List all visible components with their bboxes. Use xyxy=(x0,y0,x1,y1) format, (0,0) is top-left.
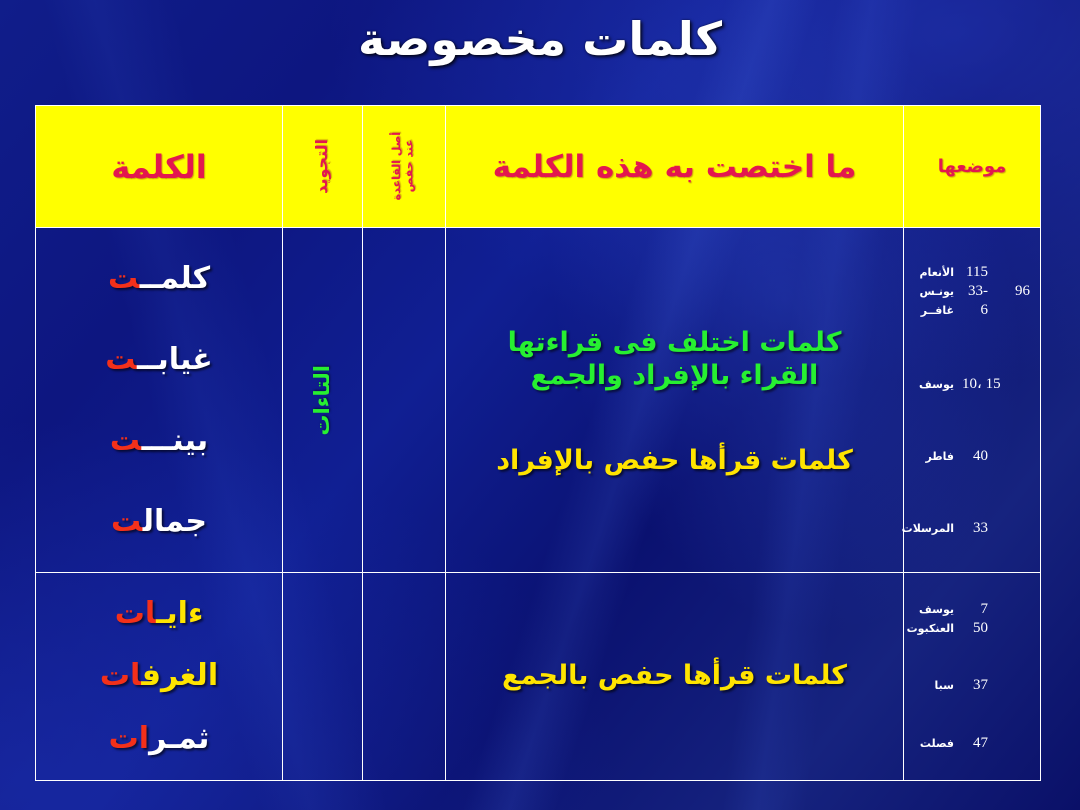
description-green: كلمات اختلف فى قراءتها القراء بالإفراد و… xyxy=(456,327,893,393)
description-wrap: كلمات قرأها حفص بالجمع xyxy=(446,573,903,780)
surah-name: يوسف xyxy=(902,378,954,391)
word-entry: الغرفات xyxy=(36,661,282,691)
ayah-number: 115 xyxy=(962,264,988,281)
surah-name: الأنعام xyxy=(902,266,954,279)
place-reference: 33المرسلات xyxy=(910,520,1034,537)
cell-rule-row0: التاءات xyxy=(283,228,363,573)
word-entry: غيابــت xyxy=(36,345,282,375)
word-suffix: ت xyxy=(111,504,143,539)
cell-places-row1: 7يوسف50العنكبوت37سبا47فصلت xyxy=(904,573,1041,781)
header-label-word: الكلمة xyxy=(111,148,207,186)
place-group: 40فاطر xyxy=(910,446,1034,467)
place-reference: 37سبا xyxy=(910,677,1034,694)
ayah-number: 33 xyxy=(962,520,988,537)
place-reference: 50العنكبوت xyxy=(910,620,1034,637)
header-label-rule: التجويد xyxy=(313,139,331,194)
word-list: كلمــتغيابــتبينـــتجمالت xyxy=(36,228,282,572)
ayah-number: 6 xyxy=(962,302,988,319)
place-reference: 7يوسف xyxy=(910,601,1034,618)
header-cell-origin: أصل القاعدة عند حفص xyxy=(363,106,446,228)
ayah-number: 7 xyxy=(962,601,988,618)
ayah-number: 40 xyxy=(962,448,988,465)
header-cell-description: ما اختصت به هذه الكلمة xyxy=(446,106,904,228)
place-reference: 115الأنعام xyxy=(910,264,1034,281)
place-group: 115الأنعام9633-يونـس6غافــر xyxy=(910,262,1034,321)
word-stem: غيابــ xyxy=(137,342,213,377)
place-reference: 10، 15يوسف xyxy=(910,374,1034,393)
place-reference: 47فصلت xyxy=(910,735,1034,752)
place-group: 7يوسف50العنكبوت xyxy=(910,599,1034,639)
rule-label-taaat: التاءات xyxy=(310,365,334,436)
place-list: 115الأنعام9633-يونـس6غافــر10، 15يوسف40ف… xyxy=(904,228,1040,572)
word-suffix: ت xyxy=(108,261,140,296)
special-words-table: موضعها ما اختصت به هذه الكلمة أصل القاعد… xyxy=(35,105,1041,781)
description-yellow: كلمات قرأها حفص بالجمع xyxy=(456,660,893,692)
word-stem: بينـــ xyxy=(142,423,209,458)
word-list: ءايـاتالغرفاتثمـرات xyxy=(36,573,282,780)
surah-name: غافــر xyxy=(902,304,954,317)
word-suffix: ات xyxy=(100,658,141,693)
word-suffix: ات xyxy=(115,596,156,631)
rule-wrap: التاءات xyxy=(283,228,362,572)
word-stem: الغرف xyxy=(141,658,218,693)
word-entry: ثمـرات xyxy=(36,724,282,754)
place-reference: 9633-يونـس xyxy=(910,283,1034,300)
ayah-number: 33- xyxy=(962,283,988,300)
place-group: 33المرسلات xyxy=(910,518,1034,539)
surah-name: سبا xyxy=(902,679,954,692)
page-title: كلمات مخصوصة xyxy=(0,14,1080,65)
table-header-row: موضعها ما اختصت به هذه الكلمة أصل القاعد… xyxy=(36,106,1041,228)
surah-name: فصلت xyxy=(902,737,954,750)
word-suffix: ت xyxy=(105,342,137,377)
cell-description-row0: كلمات اختلف فى قراءتها القراء بالإفراد و… xyxy=(446,228,904,573)
surah-name: المرسلات xyxy=(902,522,954,535)
ayah-number: 10، 15 xyxy=(962,374,988,393)
word-entry: جمالت xyxy=(36,507,282,537)
header-cell-place: موضعها xyxy=(904,106,1041,228)
description-green-line1: كلمات اختلف فى قراءتها xyxy=(456,327,893,360)
place-reference: 40فاطر xyxy=(910,448,1034,465)
header-label-description: ما اختصت به هذه الكلمة xyxy=(493,149,857,185)
cell-description-row1: كلمات قرأها حفص بالجمع xyxy=(446,573,904,781)
place-group: 47فصلت xyxy=(910,733,1034,754)
cell-places-row0: 115الأنعام9633-يونـس6غافــر10، 15يوسف40ف… xyxy=(904,228,1041,573)
header-cell-rule: التجويد xyxy=(283,106,363,228)
header-cell-word: الكلمة xyxy=(36,106,283,228)
word-suffix: ت xyxy=(110,423,142,458)
header-label-place: موضعها xyxy=(938,156,1007,177)
description-yellow: كلمات قرأها حفص بالإفراد xyxy=(456,445,893,477)
ayah-number: 37 xyxy=(962,677,988,694)
place-list: 7يوسف50العنكبوت37سبا47فصلت xyxy=(904,573,1040,780)
cell-rule-row1 xyxy=(283,573,363,781)
ayah-number: 50 xyxy=(962,620,988,637)
place-reference: 6غافــر xyxy=(910,302,1034,319)
place-group: 37سبا xyxy=(910,675,1034,696)
surah-name: العنكبوت xyxy=(902,622,954,635)
header-origin-rotated: أصل القاعدة عند حفص xyxy=(363,108,445,226)
header-rule-rotated: التجويد xyxy=(283,108,362,226)
ayah-number: 47 xyxy=(962,735,988,752)
word-stem: جمال xyxy=(143,504,207,539)
surah-name: يونـس xyxy=(902,285,954,298)
header-origin-text: أصل القاعدة عند حفص xyxy=(391,132,416,200)
word-entry: ءايـات xyxy=(36,599,282,629)
ayah-number-secondary: 96 xyxy=(996,283,1030,300)
word-entry: كلمــت xyxy=(36,264,282,294)
surah-name: فاطر xyxy=(902,450,954,463)
place-group: 10، 15يوسف xyxy=(910,372,1034,395)
cell-origin-row0 xyxy=(363,228,446,573)
word-entry: بينـــت xyxy=(36,426,282,456)
word-stem: ثمـر xyxy=(149,721,209,756)
description-wrap: كلمات اختلف فى قراءتها القراء بالإفراد و… xyxy=(446,228,903,572)
table-row: 7يوسف50العنكبوت37سبا47فصلت كلمات قرأها ح… xyxy=(36,573,1041,781)
word-stem: كلمــ xyxy=(140,261,210,296)
word-suffix: ات xyxy=(109,721,149,756)
header-origin-line2: عند حفص xyxy=(404,132,417,200)
cell-words-row1: ءايـاتالغرفاتثمـرات xyxy=(36,573,283,781)
description-green-line2: القراء بالإفراد والجمع xyxy=(456,360,893,393)
word-stem: ءايـ xyxy=(156,596,203,631)
table-row: 115الأنعام9633-يونـس6غافــر10، 15يوسف40ف… xyxy=(36,228,1041,573)
cell-words-row0: كلمــتغيابــتبينـــتجمالت xyxy=(36,228,283,573)
cell-origin-row1 xyxy=(363,573,446,781)
surah-name: يوسف xyxy=(902,603,954,616)
